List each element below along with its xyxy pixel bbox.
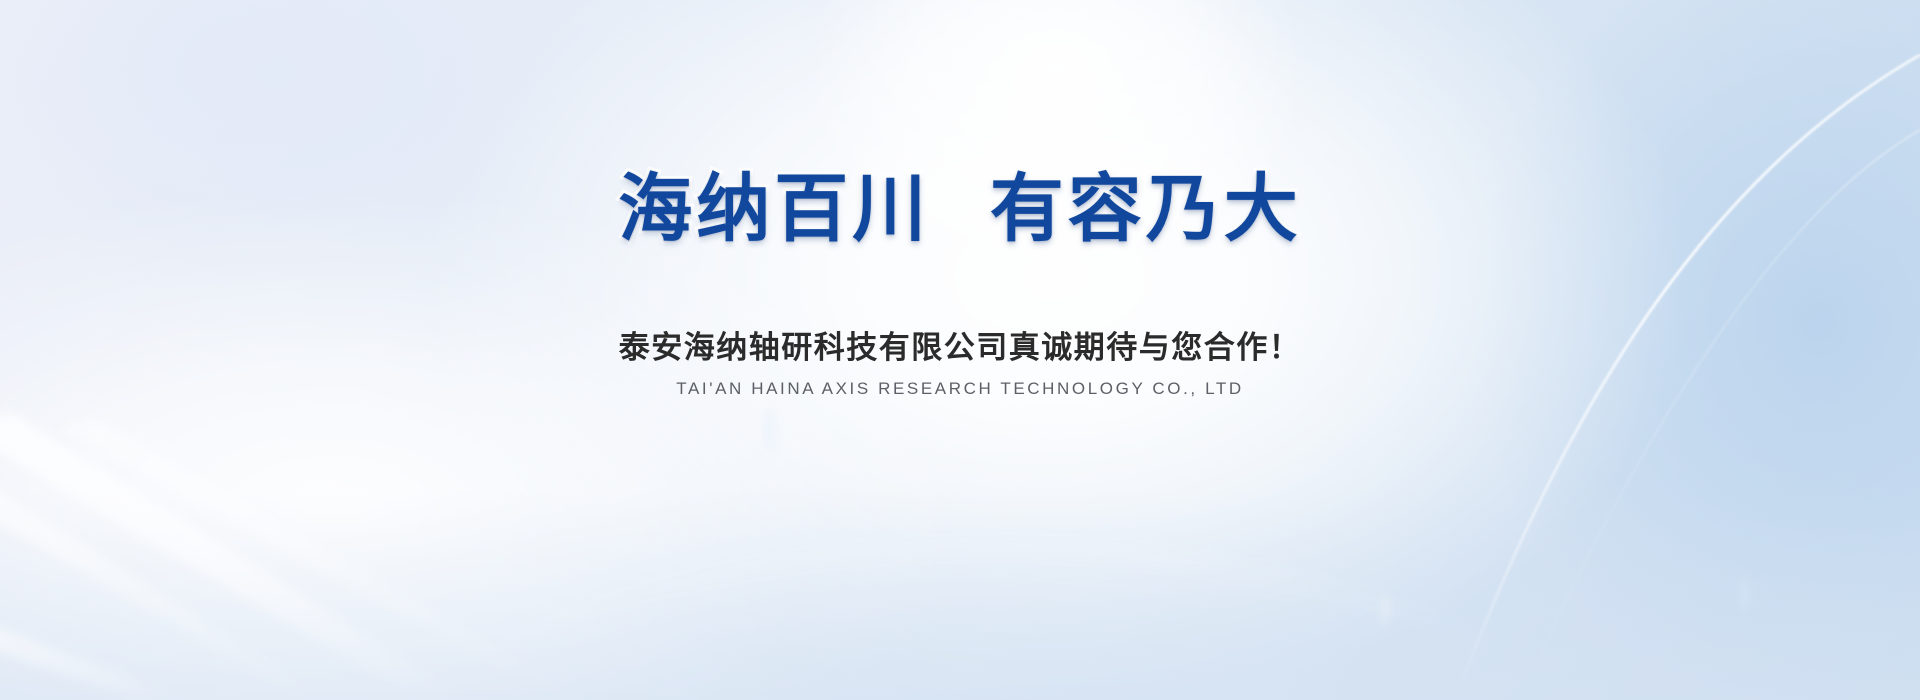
banner-subtitle-group: 泰安海纳轴研科技有限公司真诚期待与您合作！ TAI'AN HAINA AXIS … xyxy=(619,322,1302,399)
banner-content: 海纳百川 有容乃大 泰安海纳轴研科技有限公司真诚期待与您合作！ TAI'AN H… xyxy=(0,0,1920,700)
banner-subtitle-chinese: 泰安海纳轴研科技有限公司真诚期待与您合作！ xyxy=(619,322,1302,367)
banner-headline: 海纳百川 有容乃大 xyxy=(618,170,1302,250)
hero-banner: 海纳百川 有容乃大 泰安海纳轴研科技有限公司真诚期待与您合作！ TAI'AN H… xyxy=(0,0,1920,700)
banner-subtitle-english: TAI'AN HAINA AXIS RESEARCH TECHNOLOGY CO… xyxy=(676,379,1243,399)
